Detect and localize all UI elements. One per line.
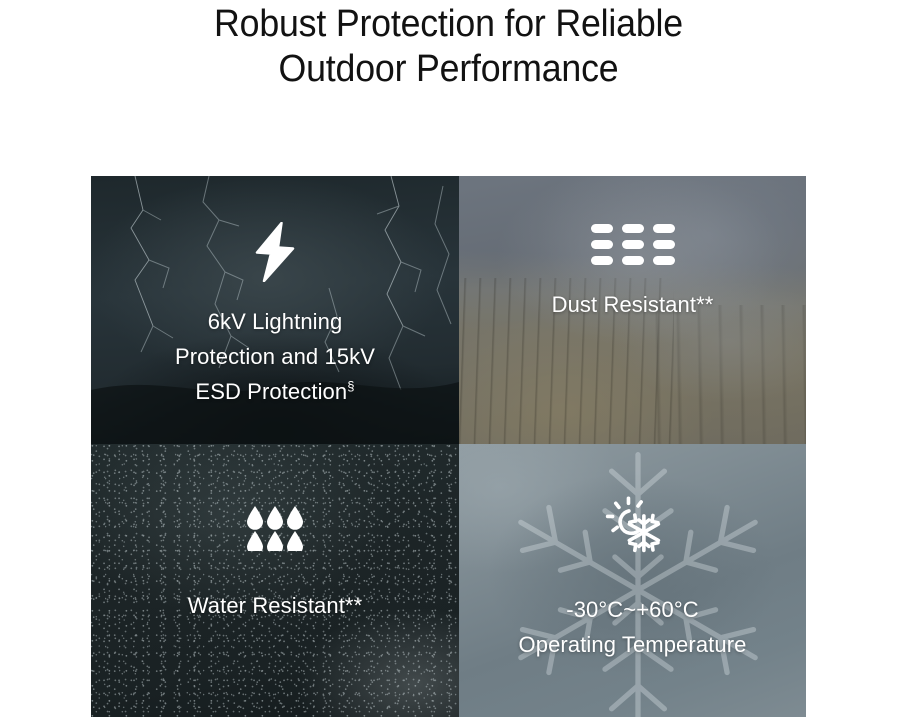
feature-section: Robust Protection for Reliable Outdoor P… xyxy=(0,0,897,717)
footnote-marker-section: § xyxy=(347,379,354,394)
feature-label-dust-resistant: Dust Resistant** xyxy=(552,287,714,322)
page-title-line-1: Robust Protection for Reliable xyxy=(27,2,870,47)
dust-particles-icon xyxy=(591,224,675,265)
feature-card-lightning-protection: 6kV Lightning Protection and 15kV ESD Pr… xyxy=(91,176,459,444)
sun-snowflake-icon xyxy=(604,496,662,559)
page-title: Robust Protection for Reliable Outdoor P… xyxy=(0,0,897,92)
feature-card-water-resistant: Water Resistant** xyxy=(91,444,459,717)
page-title-line-2: Outdoor Performance xyxy=(27,47,870,92)
feature-card-operating-temperature: -30°C~+60°C Operating Temperature xyxy=(459,444,806,717)
feature-label-operating-temperature: -30°C~+60°C Operating Temperature xyxy=(519,592,747,662)
water-droplets-icon xyxy=(246,505,304,556)
feature-card-dust-resistant: Dust Resistant** xyxy=(459,176,806,444)
feature-label-lightning-protection: 6kV Lightning Protection and 15kV ESD Pr… xyxy=(175,304,375,409)
lightning-bolt-icon xyxy=(251,222,299,287)
feature-label-water-resistant: Water Resistant** xyxy=(188,588,363,623)
feature-grid: 6kV Lightning Protection and 15kV ESD Pr… xyxy=(91,176,806,717)
